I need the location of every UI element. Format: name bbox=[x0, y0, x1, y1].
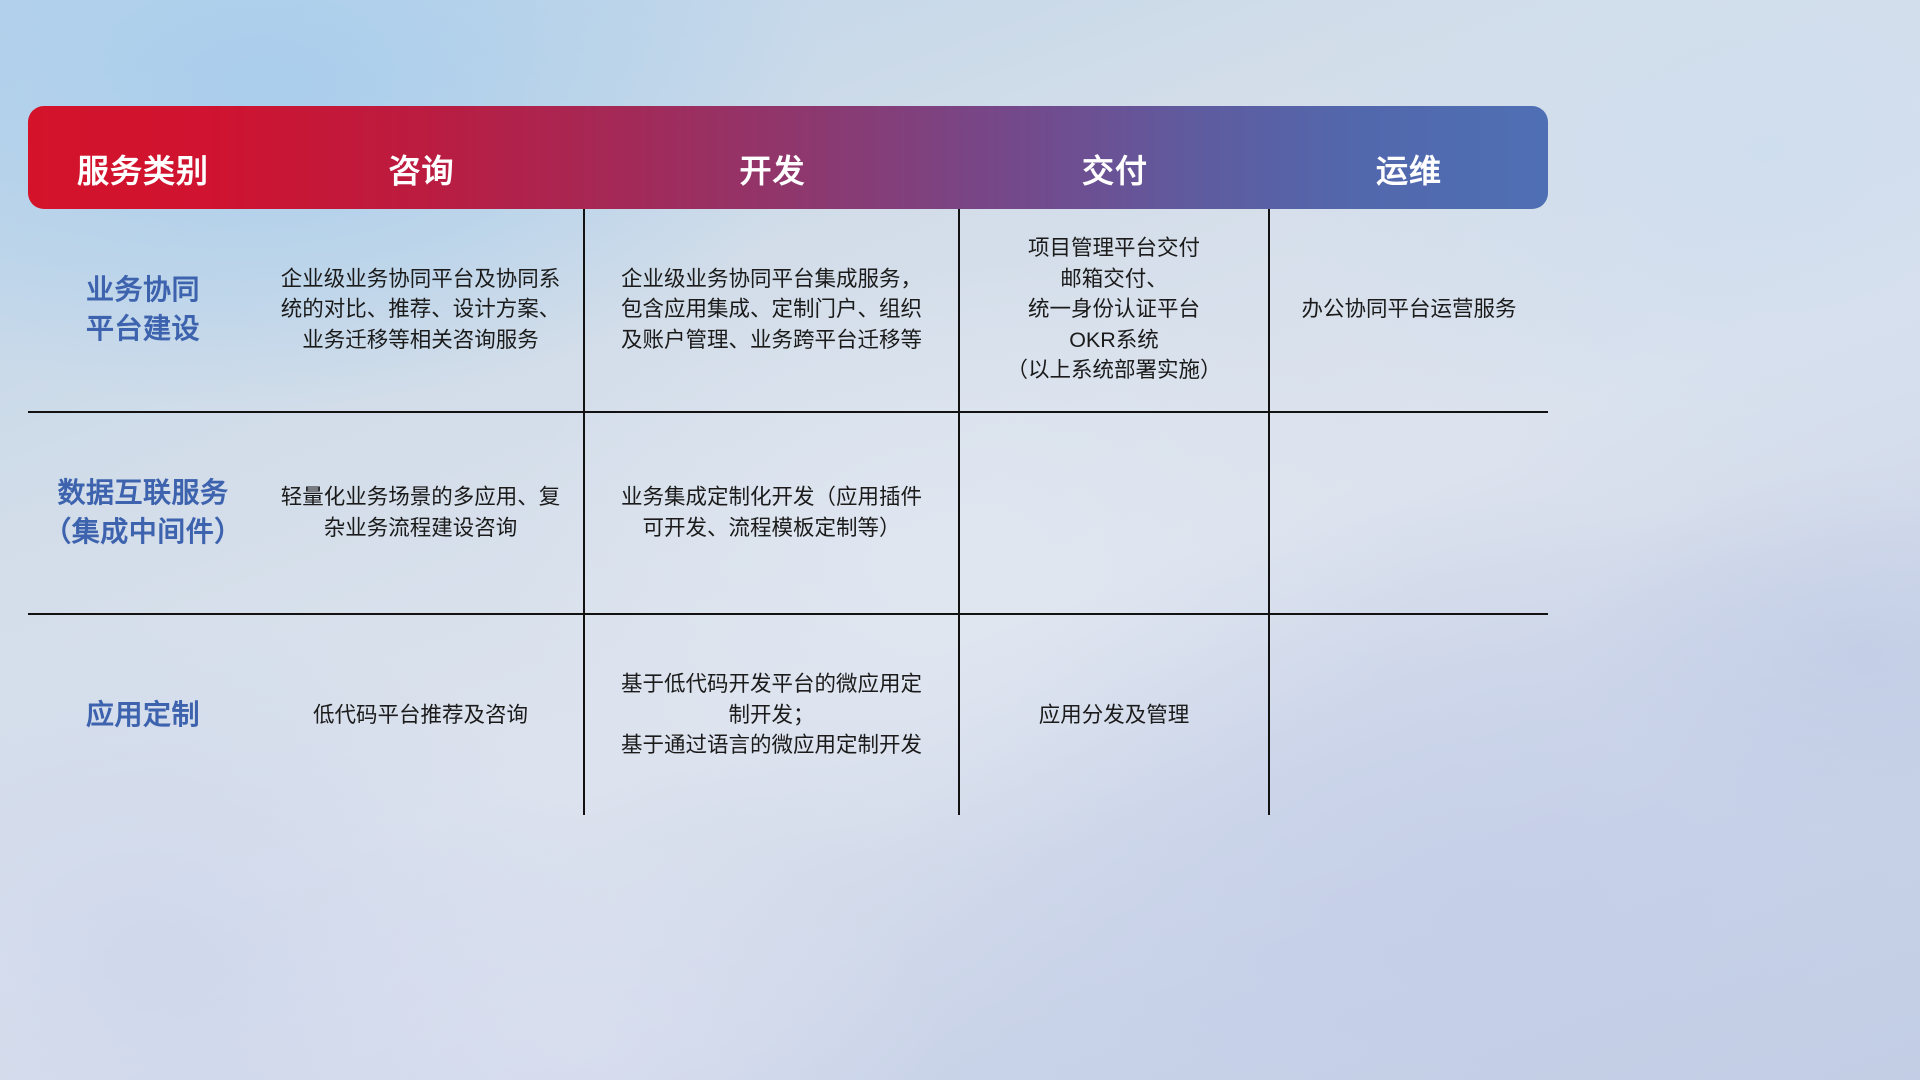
cell-delivery: 应用分发及管理 bbox=[960, 615, 1270, 815]
table-header-row: 服务类别 咨询 开发 交付 运维 bbox=[28, 106, 1548, 209]
cell-consulting: 轻量化业务场景的多应用、复 杂业务流程建设咨询 bbox=[258, 413, 585, 613]
table-row: 应用定制 低代码平台推荐及咨询 基于低代码开发平台的微应用定 制开发； 基于通过… bbox=[28, 615, 1548, 815]
cell-development: 业务集成定制化开发（应用插件 可开发、流程模板定制等） bbox=[585, 413, 960, 613]
column-header-label: 服务类别 bbox=[77, 146, 209, 192]
column-header-operations: 运维 bbox=[1270, 106, 1548, 209]
table-body: 业务协同 平台建设 企业级业务协同平台及协同系 统的对比、推荐、设计方案、 业务… bbox=[28, 208, 1548, 815]
service-matrix-table: 服务类别 咨询 开发 交付 运维 业务协同 平台建设 企业级业务协同平台及协同系… bbox=[28, 106, 1548, 815]
column-header-label: 开发 bbox=[739, 146, 805, 192]
cell-consulting: 低代码平台推荐及咨询 bbox=[258, 615, 585, 815]
cell-development: 基于低代码开发平台的微应用定 制开发； 基于通过语言的微应用定制开发 bbox=[585, 615, 960, 815]
cell-consulting: 企业级业务协同平台及协同系 统的对比、推荐、设计方案、 业务迁移等相关咨询服务 bbox=[258, 208, 585, 411]
cell-operations bbox=[1270, 413, 1548, 613]
column-header-development: 开发 bbox=[585, 106, 960, 209]
column-header-delivery: 交付 bbox=[960, 106, 1270, 209]
row-label-data-interconnect: 数据互联服务 （集成中间件） bbox=[28, 413, 258, 613]
table-row: 业务协同 平台建设 企业级业务协同平台及协同系 统的对比、推荐、设计方案、 业务… bbox=[28, 208, 1548, 413]
cell-delivery bbox=[960, 413, 1270, 613]
cell-operations bbox=[1270, 615, 1548, 815]
column-header-label: 运维 bbox=[1376, 146, 1442, 192]
column-header-consulting: 咨询 bbox=[258, 106, 585, 209]
row-label-app-customization: 应用定制 bbox=[28, 615, 258, 815]
column-header-label: 交付 bbox=[1082, 146, 1148, 192]
cell-delivery: 项目管理平台交付 邮箱交付、 统一身份认证平台 OKR系统 （以上系统部署实施） bbox=[960, 208, 1270, 411]
cell-operations: 办公协同平台运营服务 bbox=[1270, 208, 1548, 411]
table-row: 数据互联服务 （集成中间件） 轻量化业务场景的多应用、复 杂业务流程建设咨询 业… bbox=[28, 413, 1548, 615]
cell-development: 企业级业务协同平台集成服务， 包含应用集成、定制门户、组织 及账户管理、业务跨平… bbox=[585, 208, 960, 411]
row-label-business-collaboration: 业务协同 平台建设 bbox=[28, 208, 258, 411]
column-header-label: 咨询 bbox=[388, 146, 454, 192]
column-header-service-category: 服务类别 bbox=[28, 106, 258, 209]
